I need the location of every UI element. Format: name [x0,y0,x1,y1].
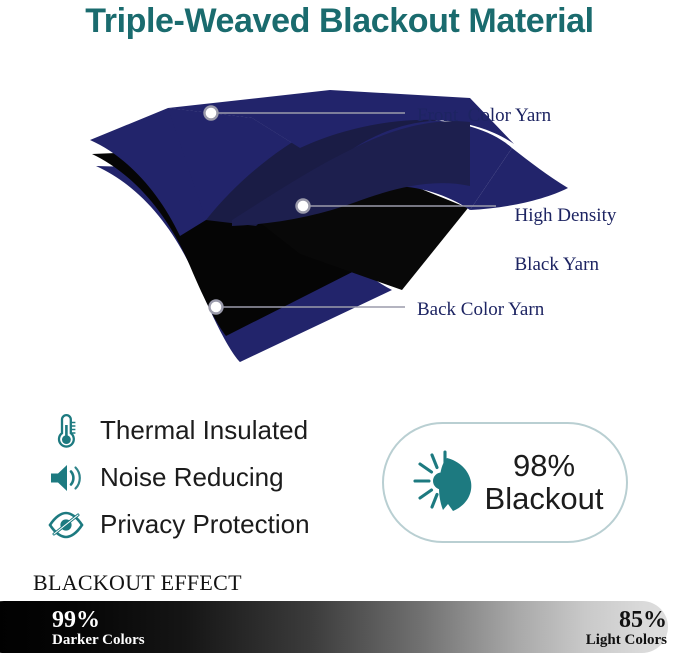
callout-label-line2: Black Yarn [515,254,599,275]
feature-label-privacy-protection: Privacy Protection [100,509,310,540]
page-title: Triple-Weaved Blackout Material [0,2,679,41]
blackout-bar-left-stat: 99% Darker Colors [52,608,145,649]
blackout-bar-left-caption: Darker Colors [52,633,145,649]
speaker-sound-icon [46,458,86,498]
blackout-bar-right-percent: 85% [586,608,667,633]
eye-slash-icon [46,505,86,545]
blackout-bar-right-stat: 85% Light Colors [586,608,667,649]
blackout-word: Blackout [485,483,604,515]
callout-label-front-color-yarn: Front Color Yarn [417,104,551,128]
blackout-badge-text: 98% Blackout [485,450,604,514]
callout-label-back-color-yarn: Back Color Yarn [417,298,544,322]
feature-row-thermal-insulated: Thermal Insulated [46,408,376,453]
feature-row-noise-reducing: Noise Reducing [46,455,376,500]
thermometer-icon [46,411,86,451]
feature-label-thermal-insulated: Thermal Insulated [100,415,308,446]
callout-label-high-density-black-yarn: High Density Black Yarn [505,180,616,277]
blackout-bar-right-caption: Light Colors [586,633,667,649]
sun-blocked-icon [407,448,479,518]
blackout-bar-left-percent: 99% [52,608,145,633]
blackout-badge: 98% Blackout [382,422,628,543]
blackout-percent: 98% [485,450,604,482]
feature-label-noise-reducing: Noise Reducing [100,462,284,493]
blackout-effect-heading: BLACKOUT EFFECT [33,570,242,596]
feature-row-privacy-protection: Privacy Protection [46,502,376,547]
feature-list: Thermal Insulated Noise Reducing Privacy… [46,408,376,549]
callout-label-line1: High Density [515,205,617,226]
